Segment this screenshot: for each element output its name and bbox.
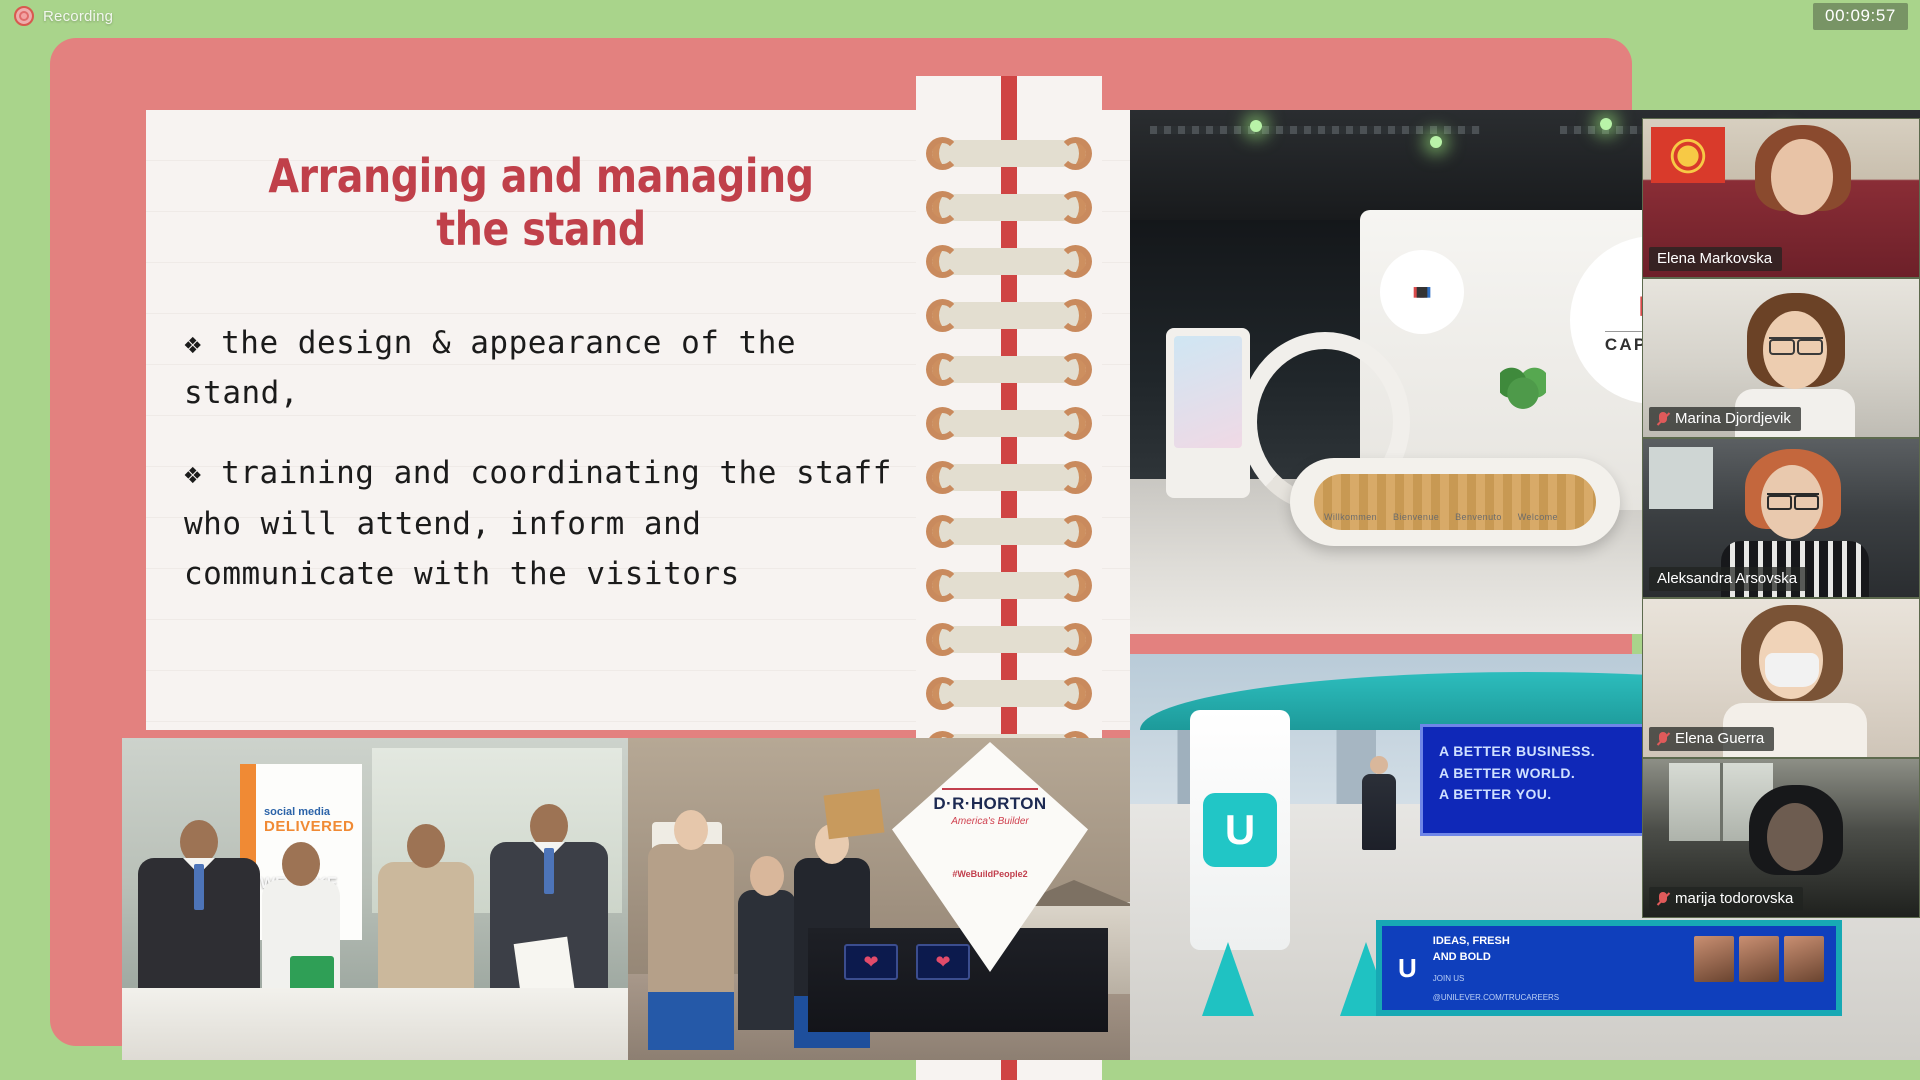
attendee-head [407,824,445,868]
shared-slide-frame[interactable]: Arranging and managing the stand ❖ the d… [50,38,1632,1046]
caparol-elephant-icon: ■ [1380,250,1464,334]
spotlight-icon [1430,136,1442,148]
recording-indicator[interactable]: Recording [14,6,113,26]
binding-ring [932,572,1086,599]
welcome-word: Benvenuto [1455,512,1502,522]
welcome-word: Willkommen [1324,512,1377,522]
participant-name: Elena Guerra [1675,730,1764,747]
visitor-head [750,856,784,896]
booth-plant [1500,362,1546,414]
binding-ring [932,626,1086,653]
presenter-body [1362,774,1396,850]
display-tablet: ❤ [844,944,898,980]
participant-tile[interactable]: Marina Djordjevik [1642,278,1920,438]
binding-ring [932,302,1086,329]
sign-rule [942,788,1038,790]
wall-art [1651,127,1725,183]
attendee-figure [378,862,474,1008]
slide-bullet-1: ❖ the design & appearance of the stand, [184,318,924,418]
participant-name-badge: Elena Guerra [1649,727,1774,751]
mic-muted-icon [1657,891,1669,907]
participant-name: marija todorovska [1675,890,1793,907]
attendee-tie [194,864,204,910]
attendee-head [180,820,218,864]
slide-title-line-1: Arranging and managing [268,149,813,203]
display-tablet: ❤ [916,944,970,980]
exhibit-table [122,988,628,1060]
welcome-word: Bienvenue [1393,512,1439,522]
welcome-words: Willkommen Bienvenue Benvenuto Welcome [1316,512,1566,522]
binding-ring [932,518,1086,545]
participant-tile[interactable]: Elena Markovska [1642,118,1920,278]
participant-name: Aleksandra Arsovska [1657,570,1797,587]
participant-face [1771,139,1833,215]
unilever-logo-icon: U [1203,793,1277,867]
binding-ring [932,464,1086,491]
banner-sub-1: JOIN US [1433,973,1559,985]
glasses-icon [1767,493,1819,504]
participant-name-badge: Marina Djordjevik [1649,407,1801,431]
participant-tile[interactable]: marija todorovska [1642,758,1920,918]
banner-people-photos [1694,936,1824,982]
spotlight-icon [1250,120,1262,132]
participant-face [1767,803,1823,871]
meeting-timer: 00:09:57 [1813,3,1908,30]
recording-top-bar: Recording 00:09:57 [0,0,1920,32]
board-line-3: A BETTER YOU. [1439,784,1669,806]
board-line-2: A BETTER WORLD. [1439,763,1669,785]
manila-folder [824,789,885,839]
participant-tile[interactable]: Aleksandra Arsovska [1642,438,1920,598]
slide-title-line-2: the stand [436,202,645,256]
banner-headline-2: AND BOLD [1433,949,1559,966]
unilever-careers-banner: U IDEAS, FRESH AND BOLD JOIN US @UNILEVE… [1376,920,1842,1016]
spotlight-icon [1600,118,1612,130]
diamond-bullet-icon: ❖ [184,326,202,360]
banner-line-2: DELIVERED [264,818,362,835]
ceiling-truss [1150,126,1480,134]
visitor-head [674,810,708,850]
job-fair-handshake-photo: social media DELIVERED WE MAKE [122,738,628,1060]
video-conference-screen: Recording 00:09:57 Arranging and managin… [0,0,1920,1080]
record-dot-icon [14,6,34,26]
unilever-pillar: U [1190,710,1290,950]
participant-name-badge: Elena Markovska [1649,247,1782,271]
slide-bullet-2-text: training and coordinating the staff who … [184,455,892,591]
booth-visitor-figure [648,844,734,1030]
banner-photo [1784,936,1824,982]
booth-table: ❤ ❤ [808,928,1108,1032]
kiosk-screen [1174,336,1242,448]
attendee-figure [138,858,260,1008]
banner-line-1: social media [264,806,362,818]
binding-ring [932,248,1086,275]
binding-ring [932,194,1086,221]
unilever-logo-icon: U [1398,953,1417,984]
board-line-1: A BETTER BUSINESS. [1439,741,1669,763]
dr-horton-tagline: America's Builder [892,816,1088,827]
participant-tile[interactable]: Elena Guerra [1642,598,1920,758]
recording-label: Recording [43,8,113,25]
binding-ring [932,356,1086,383]
binding-ring [932,680,1086,707]
banner-photo [1739,936,1779,982]
mic-muted-icon [1657,411,1669,427]
presenter-figure [1362,756,1396,850]
booth-kiosk [1166,328,1250,498]
attendee-head [530,804,568,848]
participant-name: Elena Markovska [1657,250,1772,267]
slide-title: Arranging and managing the stand [201,150,880,257]
banner-sub-2: @UNILEVER.COM/TRUCAREERS [1433,992,1559,1004]
booth-visitor-figure [738,890,796,1030]
attendee-tie [544,848,554,894]
mic-muted-icon [1657,731,1669,747]
binding-ring [932,140,1086,167]
participant-name-badge: Aleksandra Arsovska [1649,567,1807,591]
visitor-skirt [648,992,734,1050]
welcome-word: Welcome [1518,512,1558,522]
room-window [1649,447,1713,509]
binding-ring [932,410,1086,437]
dr-horton-booth-photo: ❤ ❤ D·R·HORTON America's Builder #WeBuil… [628,738,1130,1060]
participant-name: Marina Djordjevik [1675,410,1791,427]
participant-video-sidebar: Elena Markovska Marina Djordjevik Aleksa… [1642,118,1920,918]
glasses-icon [1769,337,1823,349]
banner-photo [1694,936,1734,982]
booth-reception-counter [1290,458,1620,546]
slide-body: ❖ the design & appearance of the stand, … [184,318,924,629]
stand-cone [1202,942,1254,1016]
attendee-head [282,842,320,886]
slide-bullet-1-text: the design & appearance of the stand, [184,325,796,411]
diamond-bullet-icon: ❖ [184,456,202,490]
participant-name-badge: marija todorovska [1649,887,1803,911]
slide-bullet-2: ❖ training and coordinating the staff wh… [184,448,924,599]
presenter-head [1370,756,1388,774]
face-mask-icon [1765,653,1819,687]
banner-headline-1: IDEAS, FRESH [1433,933,1559,950]
